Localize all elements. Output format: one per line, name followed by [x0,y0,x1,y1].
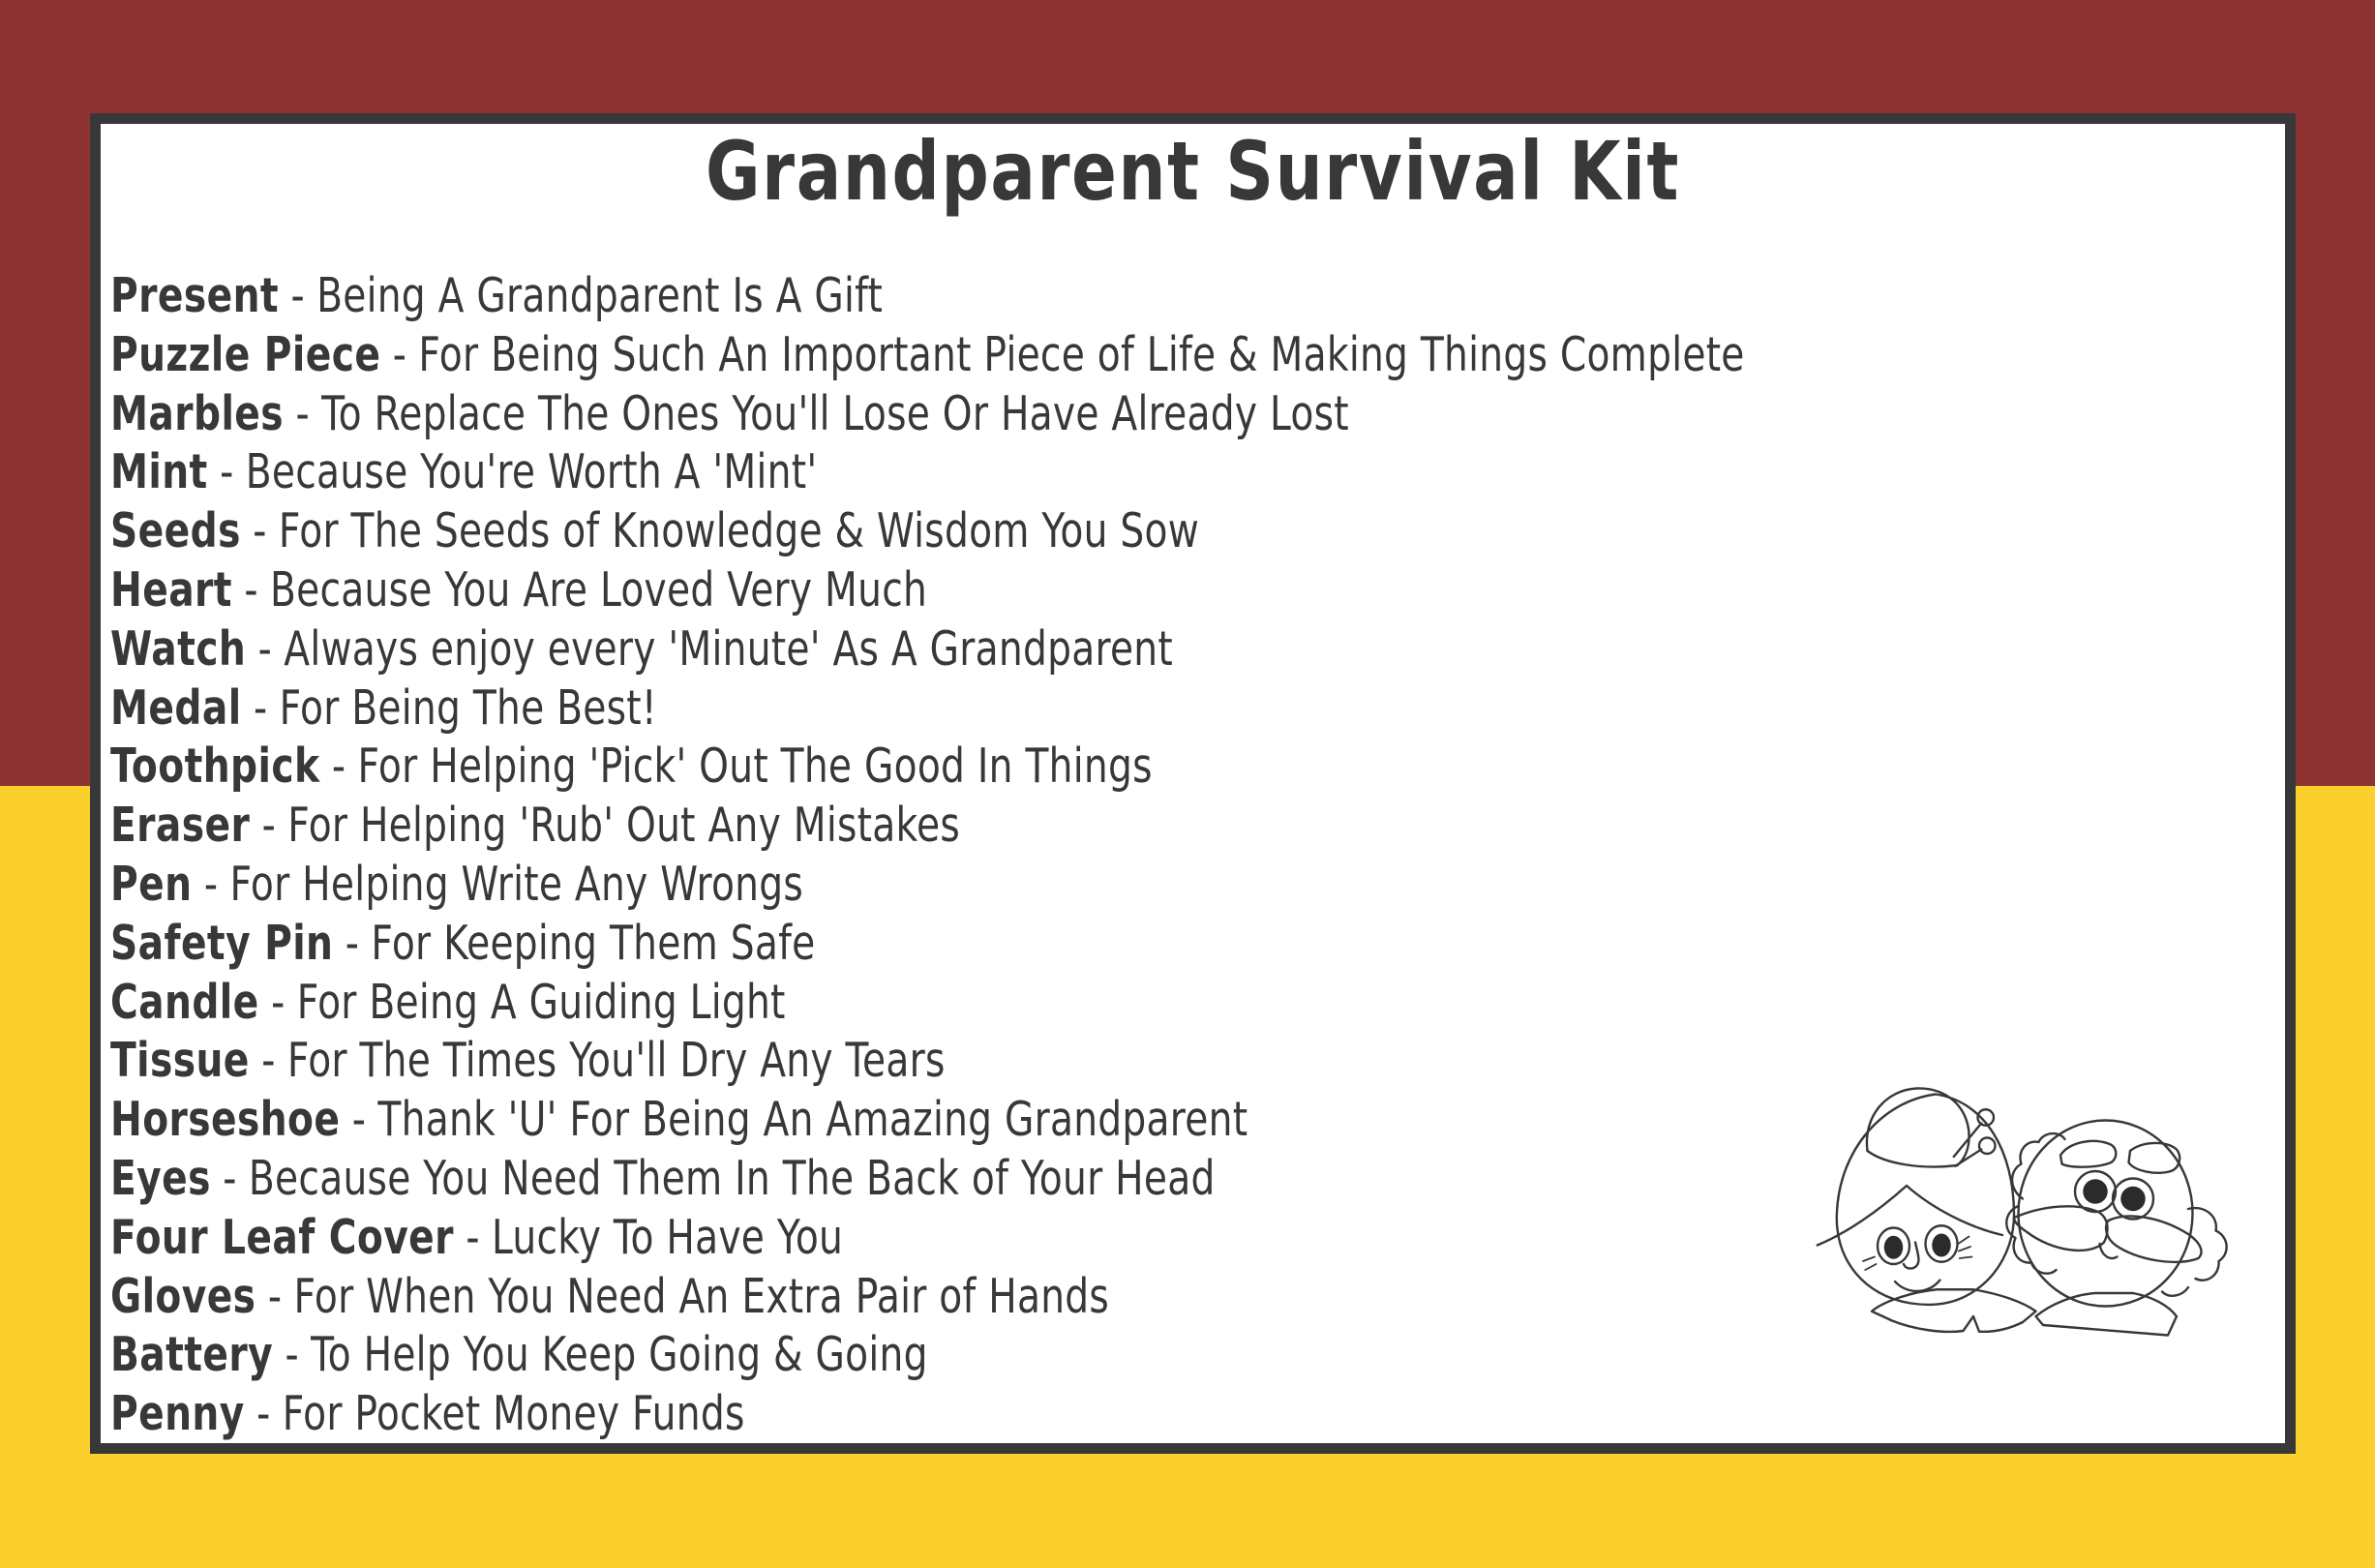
list-item: Present - Being A Grandparent Is A Gift [110,267,1783,326]
list-item-term: Seeds [110,503,241,558]
list-item: Safety Pin - For Keeping Them Safe [110,915,1783,974]
list-item-separator: - [241,503,279,558]
list-item-separator: - [242,680,280,736]
list-item: Toothpick - For Helping 'Pick' Out The G… [110,738,1783,797]
grandpa-mustache-right [2106,1217,2201,1262]
list-item-term: Medal [110,680,242,736]
list-item-separator: - [454,1210,492,1265]
list-item: Gloves - For When You Need An Extra Pair… [110,1268,1783,1327]
list-item: Eraser - For Helping 'Rub' Out Any Mista… [110,797,1783,856]
list-item: Watch - Always enjoy every 'Minute' As A… [110,620,1783,679]
list-item-separator: - [256,1269,293,1324]
grandpa-eyebrow-right [2129,1143,2180,1173]
list-item-description: To Replace The Ones You'll Lose Or Have … [321,386,1349,441]
list-item-description: For Helping 'Rub' Out Any Mistakes [287,798,960,853]
grandmother-figure [1818,1088,2036,1331]
grandma-lash-r1 [1959,1247,1970,1251]
list-item-term: Battery [110,1327,273,1382]
grandpa-mouth [2100,1244,2118,1258]
grandpa-pupil-left [2083,1179,2108,1204]
list-item: Pen - For Helping Write Any Wrongs [110,856,1783,915]
list-item-term: Eraser [110,798,250,853]
list-item-term: Toothpick [110,739,319,794]
list-item-description: For Helping Write Any Wrongs [230,857,804,912]
grandpa-pupil-right [2120,1187,2146,1212]
list-item-term: Pen [110,857,192,912]
list-item-separator: - [319,739,357,794]
list-item-term: Puzzle Piece [110,327,380,382]
list-item-term: Mint [110,444,208,499]
page-title: Grandparent Survival Kit [297,129,2089,214]
grandma-pupil-right [1932,1234,1951,1257]
list-item-term: Present [110,268,279,323]
list-item-term: Marbles [110,386,284,441]
list-item: Four Leaf Cover - Lucky To Have You [110,1209,1783,1268]
list-item-description: For Helping 'Pick' Out The Good In Thing… [358,739,1153,794]
grandma-lash-r3 [1958,1237,1969,1245]
list-item-separator: - [245,1386,283,1441]
grandma-collar [1872,1289,2036,1332]
list-item-description: For Pocket Money Funds [283,1386,745,1441]
list-item-separator: - [340,1092,377,1147]
list-item: Medal - For Being The Best! [110,679,1783,739]
list-item: Tissue - For The Times You'll Dry Any Te… [110,1032,1783,1091]
list-item-separator: - [250,798,287,853]
list-item-description: Thank 'U' For Being An Amazing Grandpare… [377,1092,1248,1147]
list-item-description: For Being The Best! [280,680,657,736]
grandpa-eyebrow-left [2060,1141,2116,1167]
list-item-separator: - [208,444,246,499]
list-item-description: For Keeping Them Safe [371,916,815,971]
grandma-bun-base [1868,1151,1958,1166]
list-item-separator: - [192,857,229,912]
grandpa-head [2019,1121,2193,1307]
list-item-separator: - [259,975,297,1030]
grandma-lash-l2 [1865,1264,1876,1270]
list-item-term: Horseshoe [110,1092,340,1147]
list-item-separator: - [279,268,316,323]
grandpa-hair-right-lower [2162,1287,2188,1296]
list-item-term: Heart [110,562,232,618]
poster-card: Grandparent Survival Kit Present - Being… [90,113,2296,1454]
list-item: Penny - For Pocket Money Funds [110,1385,1783,1444]
list-item-term: Safety Pin [110,916,333,971]
list-item-separator: - [250,1033,287,1088]
list-item-separator: - [380,327,418,382]
list-item-separator: - [333,916,371,971]
grandma-lash-l1 [1863,1257,1875,1262]
grandpa-hair-right [2188,1208,2227,1281]
list-item-description: For Being A Guiding Light [297,975,786,1030]
list-item-description: To Help You Keep Going & Going [311,1327,928,1382]
list-item: Candle - For Being A Guiding Light [110,974,1783,1033]
list-item: Seeds - For The Seeds of Knowledge & Wis… [110,502,1783,561]
grandma-hairpin-head-2 [1979,1138,1996,1155]
list-item-description: For The Seeds of Knowledge & Wisdom You … [279,503,1199,558]
grandma-pupil-left [1884,1236,1904,1259]
list-item-description: Because You Need Them In The Back of You… [249,1151,1216,1206]
list-item-term: Eyes [110,1151,211,1206]
list-item-separator: - [211,1151,249,1206]
grandma-lash-r2 [1960,1257,1972,1259]
list-item-description: For Being Such An Important Piece of Lif… [418,327,1744,382]
list-item-description: For When You Need An Extra Pair of Hands [294,1269,1110,1324]
list-item-description: For The Times You'll Dry Any Tears [287,1033,946,1088]
grandpa-collar [2036,1293,2178,1336]
list-item: Mint - Because You're Worth A 'Mint' [110,443,1783,502]
list-item: Heart - Because You Are Loved Very Much [110,561,1783,620]
list-item-description: Being A Grandparent Is A Gift [316,268,883,323]
list-item-description: Because You're Worth A 'Mint' [246,444,818,499]
grandma-bangs [1818,1186,2002,1246]
list-item: Marbles - To Replace The Ones You'll Los… [110,385,1783,444]
list-item-separator: - [284,386,321,441]
grandparents-illustration [1805,1070,2240,1360]
poster-card-inner: Grandparent Survival Kit Present - Being… [101,124,2285,1443]
list-item-separator: - [273,1327,311,1382]
list-item: Puzzle Piece - For Being Such An Importa… [110,326,1783,385]
list-item: Battery - To Help You Keep Going & Going [110,1326,1783,1385]
grandma-hair-bun [1867,1088,1969,1165]
list-item-term: Four Leaf Cover [110,1210,454,1265]
list-item-term: Candle [110,975,259,1030]
poster-page: Grandparent Survival Kit Present - Being… [0,0,2375,1568]
list-item: Eyes - Because You Need Them In The Back… [110,1150,1783,1209]
list-item-term: Penny [110,1386,245,1441]
list-item-description: Lucky To Have You [492,1210,843,1265]
grandpa-hair-left-top [2012,1133,2064,1198]
grandfather-figure [2006,1121,2226,1336]
list-item-term: Tissue [110,1033,250,1088]
list-item: Horseshoe - Thank 'U' For Being An Amazi… [110,1091,1783,1150]
list-item-description: Always enjoy every 'Minute' As A Grandpa… [284,621,1173,677]
list-item-term: Gloves [110,1269,256,1324]
list-item-separator: - [232,562,270,618]
list-item-separator: - [246,621,284,677]
list-item-term: Watch [110,621,246,677]
grandpa-mustache-left [2014,1206,2108,1251]
list-item-description: Because You Are Loved Very Much [270,562,927,618]
